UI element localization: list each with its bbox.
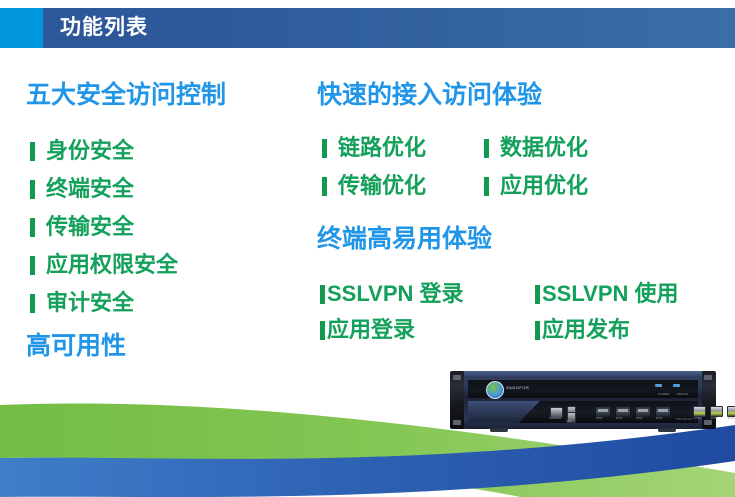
list-item: SSLVPN 使用 bbox=[535, 281, 679, 307]
page-title: 功能列表 bbox=[60, 12, 148, 44]
list-item: 应用优化 bbox=[484, 173, 588, 199]
bullet-icon bbox=[30, 256, 35, 275]
rack-ear-right bbox=[701, 371, 716, 429]
list-item: 传输优化 bbox=[322, 173, 426, 199]
sfp-port-label: ETH1 bbox=[616, 417, 622, 420]
bullet-icon bbox=[30, 142, 35, 161]
usb-port-label: USB bbox=[566, 420, 571, 423]
sangfor-appliance-image: SANGFOR POWER STATUS CONSOLE USB ETH0 ET bbox=[450, 371, 716, 429]
sfp-port-label: ETH2 bbox=[636, 417, 642, 420]
ethernet-port-icon bbox=[710, 406, 723, 417]
bullet-icon bbox=[484, 139, 489, 158]
status-led-label: STATUS bbox=[677, 392, 688, 396]
list-item-label: 审计安全 bbox=[46, 290, 134, 316]
led-label-group: POWER STATUS bbox=[658, 392, 688, 396]
screw-icon bbox=[704, 420, 712, 425]
list-item: 应用发布 bbox=[535, 317, 630, 343]
bullet-icon bbox=[535, 285, 540, 304]
list-item: SSLVPN 登录 bbox=[320, 281, 464, 307]
bullet-icon bbox=[322, 139, 327, 158]
appliance-chassis: SANGFOR POWER STATUS CONSOLE USB ETH0 ET bbox=[464, 371, 702, 429]
ethernet-port-icon bbox=[727, 406, 735, 417]
screw-icon bbox=[453, 420, 461, 425]
left-column-heading: 五大安全访问控制 bbox=[26, 80, 226, 110]
bullet-icon bbox=[320, 321, 325, 340]
list-item-label: 数据优化 bbox=[500, 135, 588, 161]
bullet-icon bbox=[30, 218, 35, 237]
list-item-label: 应用发布 bbox=[542, 317, 630, 343]
bullet-icon bbox=[320, 285, 325, 304]
right-top-heading: 快速的接入访问体验 bbox=[317, 80, 542, 110]
list-item-label: 传输安全 bbox=[46, 214, 134, 240]
list-item: 传输安全 bbox=[30, 214, 134, 240]
list-item: 数据优化 bbox=[484, 135, 588, 161]
chassis-foot bbox=[490, 428, 508, 432]
header-accent-block bbox=[0, 8, 43, 48]
list-item-label: 终端安全 bbox=[46, 176, 134, 202]
right-bottom-heading: 终端高易用体验 bbox=[317, 224, 492, 254]
brand-label: SANGFOR bbox=[506, 385, 529, 390]
list-item-label: 身份安全 bbox=[46, 138, 134, 164]
screw-icon bbox=[453, 375, 461, 380]
list-item-label: 应用登录 bbox=[327, 317, 415, 343]
slide-canvas: 功能列表 五大安全访问控制 身份安全 终端安全 传输安全 应用权限安全 审计安全… bbox=[0, 0, 735, 497]
left-column-subheading: 高可用性 bbox=[26, 331, 126, 361]
status-led-group bbox=[655, 384, 680, 387]
list-item: 应用权限安全 bbox=[30, 252, 178, 278]
ethernet-port-label: ETH6 bbox=[728, 417, 734, 420]
list-item: 审计安全 bbox=[30, 290, 134, 316]
list-item-label: 链路优化 bbox=[338, 135, 426, 161]
list-item: 链路优化 bbox=[322, 135, 426, 161]
ethernet-port-icon bbox=[693, 406, 706, 417]
ethernet-port-label: ETH5 bbox=[711, 417, 717, 420]
list-item: 身份安全 bbox=[30, 138, 134, 164]
chassis-left-plate bbox=[468, 401, 540, 423]
power-led-icon bbox=[655, 384, 662, 387]
list-item: 终端安全 bbox=[30, 176, 134, 202]
sfp-port-label: ETH3 bbox=[656, 417, 662, 420]
list-item-label: 传输优化 bbox=[338, 173, 426, 199]
list-item-label: SSLVPN 登录 bbox=[327, 281, 464, 307]
chassis-foot bbox=[658, 428, 676, 432]
bullet-icon bbox=[30, 180, 35, 199]
list-item-label: SSLVPN 使用 bbox=[542, 281, 679, 307]
chassis-top-bevel bbox=[464, 371, 702, 378]
list-item-label: 应用优化 bbox=[500, 173, 588, 199]
model-label: M5100-AC bbox=[676, 417, 693, 421]
sangfor-logo-icon bbox=[486, 381, 504, 399]
power-led-label: POWER bbox=[658, 392, 669, 396]
ethernet-port-label: ETH4 bbox=[694, 417, 700, 420]
screw-icon bbox=[704, 375, 712, 380]
list-item-label: 应用权限安全 bbox=[46, 252, 178, 278]
bullet-icon bbox=[535, 321, 540, 340]
console-port-label: CONSOLE bbox=[549, 417, 561, 420]
sfp-port-label: ETH0 bbox=[596, 417, 602, 420]
chassis-port-panel: CONSOLE USB ETH0 ETH1 ETH2 ETH3 ETH4 ETH… bbox=[468, 401, 698, 423]
bullet-icon bbox=[30, 294, 35, 313]
status-led-icon bbox=[673, 384, 680, 387]
bullet-icon bbox=[322, 177, 327, 196]
list-item: 应用登录 bbox=[320, 317, 415, 343]
rack-ear-left bbox=[450, 371, 465, 429]
bullet-icon bbox=[484, 177, 489, 196]
